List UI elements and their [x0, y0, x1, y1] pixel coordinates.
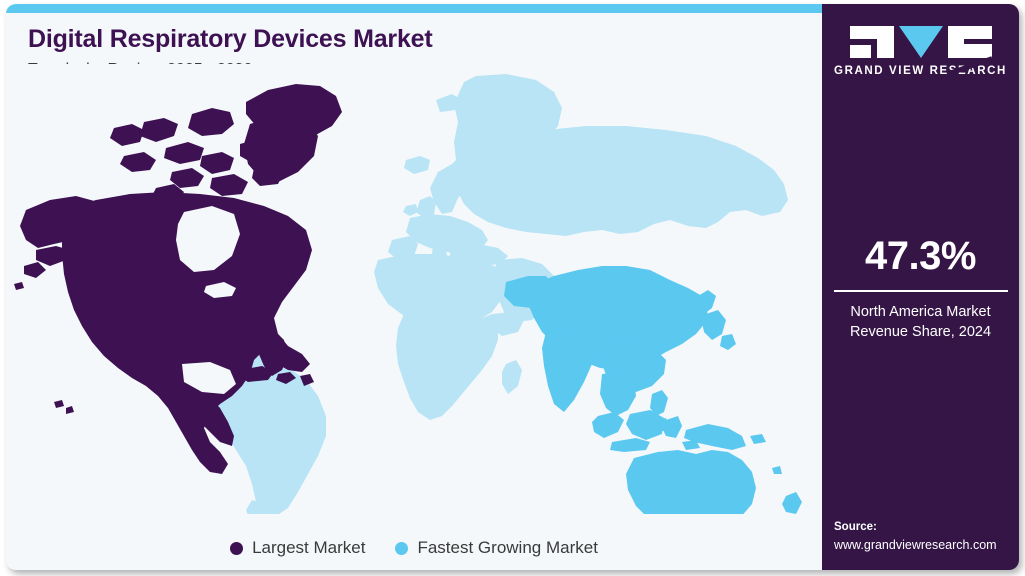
- stat-value: 47.3%: [822, 236, 1019, 276]
- page-title: Digital Respiratory Devices Market: [28, 26, 788, 54]
- source-block: Source: www.grandviewresearch.com: [834, 519, 1019, 554]
- stat-divider: [834, 290, 1008, 292]
- infographic-card: Digital Respiratory Devices Market Trend…: [6, 4, 1019, 570]
- stat-block: 47.3% North America Market Revenue Share…: [822, 236, 1019, 342]
- logo-letter-r-icon: [948, 26, 992, 58]
- logo-letter-g-icon: [850, 26, 894, 58]
- legend-item-fastest-growing-market[interactable]: Fastest Growing Market: [395, 538, 597, 558]
- map-legend: Largest Market Fastest Growing Market: [6, 528, 822, 568]
- circle-marker-icon: [395, 542, 408, 555]
- logo-marks: [822, 26, 1019, 58]
- brand-logo[interactable]: GRAND VIEW RESEARCH: [822, 26, 1019, 77]
- stat-label-line1: North America Market: [822, 302, 1019, 322]
- stat-label-line2: Revenue Share, 2024: [822, 322, 1019, 342]
- legend-label: Largest Market: [252, 538, 365, 558]
- source-url[interactable]: www.grandviewresearch.com: [834, 537, 1019, 555]
- source-title: Source:: [834, 519, 1019, 536]
- legend-item-largest-market[interactable]: Largest Market: [230, 538, 365, 558]
- world-map-svg: [6, 64, 822, 514]
- world-map: [6, 64, 822, 514]
- logo-letter-v-icon: [899, 26, 943, 58]
- top-accent-bar: [6, 4, 822, 13]
- circle-marker-icon: [230, 542, 243, 555]
- brand-panel: GRAND VIEW RESEARCH 47.3% North America …: [822, 4, 1019, 570]
- brand-wordmark: GRAND VIEW RESEARCH: [822, 65, 1019, 77]
- legend-label: Fastest Growing Market: [417, 538, 597, 558]
